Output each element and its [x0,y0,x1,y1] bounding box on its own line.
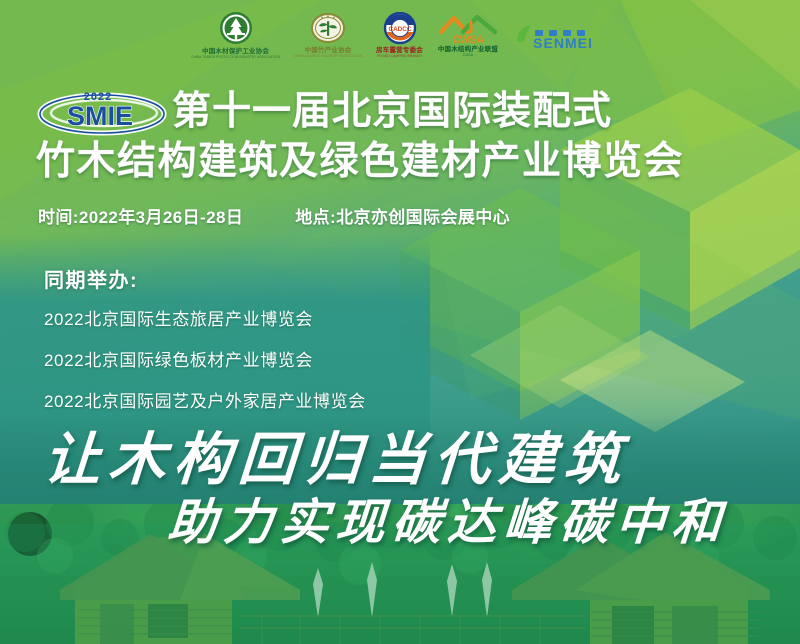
concurrent-event-item: 2022北京国际绿色板材产业博览会 [44,346,366,371]
logo-cadcc-rv-camping-committee: CADCC 房车露营专委会 RV AND CAMPING BRANCH [376,7,423,63]
exhibition-poster: 中国木材保护工业协会 CHINA TIMBER PROTECTION INDUS… [0,0,800,644]
association-logo-strip: 中国木材保护工业协会 CHINA TIMBER PROTECTION INDUS… [0,4,800,66]
bamboo-oval-emblem-icon [309,12,347,48]
page-title-line2: 竹木结构建筑及绿色建材产业博览会 [36,140,684,184]
logo-caption-en: CHINA TIMBER PROTECTION INDUSTRY ASSOCIA… [191,56,280,60]
logo-caption-en: CHINA BAMBOO INDUSTRY ASSOCIATION [294,55,362,59]
logo-senmei: SENMEI [513,7,609,63]
concurrent-events: 同期举办: 2022北京国际生态旅居产业博览会 2022北京国际绿色板材产业博览… [44,264,366,428]
cadcc-roundel-icon: CADCC [380,12,420,48]
event-date: 时间:2022年3月26日-28日 [38,203,243,228]
concurrent-events-heading: 同期举办: [44,264,366,293]
svg-text:CADCC: CADCC [388,26,411,33]
logo-caption-en: RV AND CAMPING BRANCH [377,55,422,59]
concurrent-event-item: 2022北京国际园艺及户外家居产业博览会 [44,387,366,412]
event-venue: 地点:北京亦创国际会展中心 [295,203,510,228]
senmei-leaf-wordmark-icon: SENMEI [513,18,609,52]
logo-caption-en: CWSA [463,54,473,58]
house-roof-cwsa-icon: CWSA [437,13,499,47]
svg-text:SMIE: SMIE [67,101,133,131]
svg-text:CWSA: CWSA [452,34,484,46]
concurrent-event-item: 2022北京国际生态旅居产业博览会 [44,305,366,330]
logo-china-bamboo-industry-association: 中国竹产业协会 CHINA BAMBOO INDUSTRY ASSOCIATIO… [294,7,362,63]
smie-logo: 2022 SMIE [36,86,168,136]
slogan-line2: 助力实现碳达峰碳中和 [166,483,731,554]
page-title-line1: 第十一届北京国际装配式 [172,92,612,131]
svg-text:SENMEI: SENMEI [533,35,593,51]
event-meta: 时间:2022年3月26日-28日 地点:北京亦创国际会展中心 [38,203,510,228]
logo-china-timber-protection-industry-association: 中国木材保护工业协会 CHINA TIMBER PROTECTION INDUS… [191,7,280,63]
title-row: 2022 SMIE 第十一届北京国际装配式 [36,86,776,136]
logo-china-wooden-structure-industry-alliance: CWSA 中国木结构产业联盟 CWSA [437,7,499,63]
pine-tree-emblem-icon [216,11,256,49]
